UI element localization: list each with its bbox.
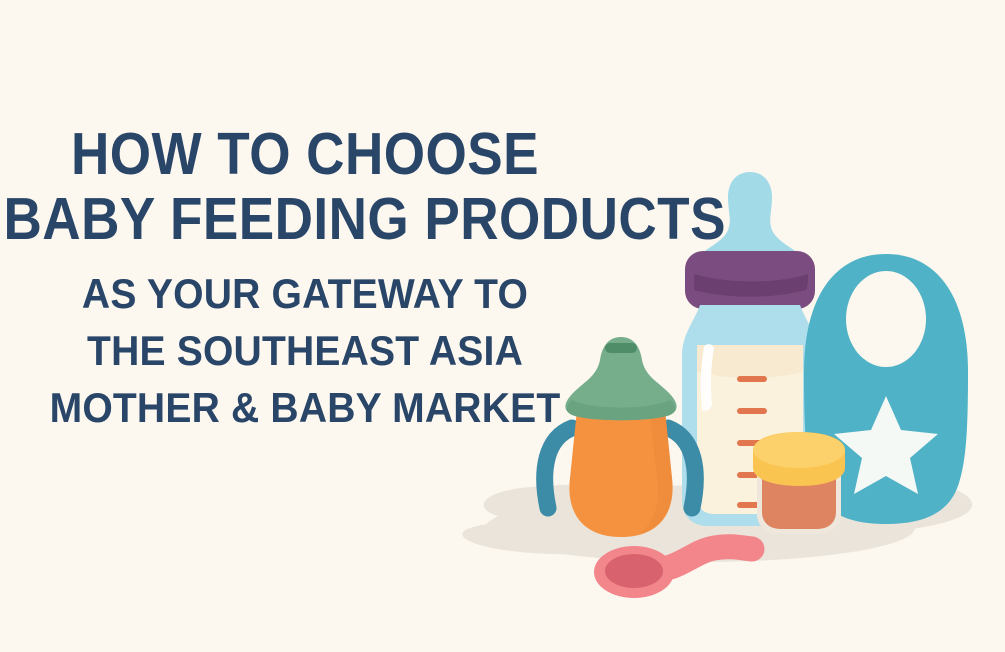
bib-neck-hole (846, 271, 926, 367)
sippy-cup-spout-slot (605, 343, 637, 353)
banner-root: HOW TO CHOOSE BABY FEEDING PRODUCTS AS Y… (0, 0, 1005, 652)
bottle-collar (685, 251, 815, 309)
baby-food-jar (753, 432, 845, 534)
spoon-bowl-inner (605, 554, 663, 588)
jar-lid-top (753, 432, 845, 468)
illustration-artboard (0, 0, 1005, 652)
